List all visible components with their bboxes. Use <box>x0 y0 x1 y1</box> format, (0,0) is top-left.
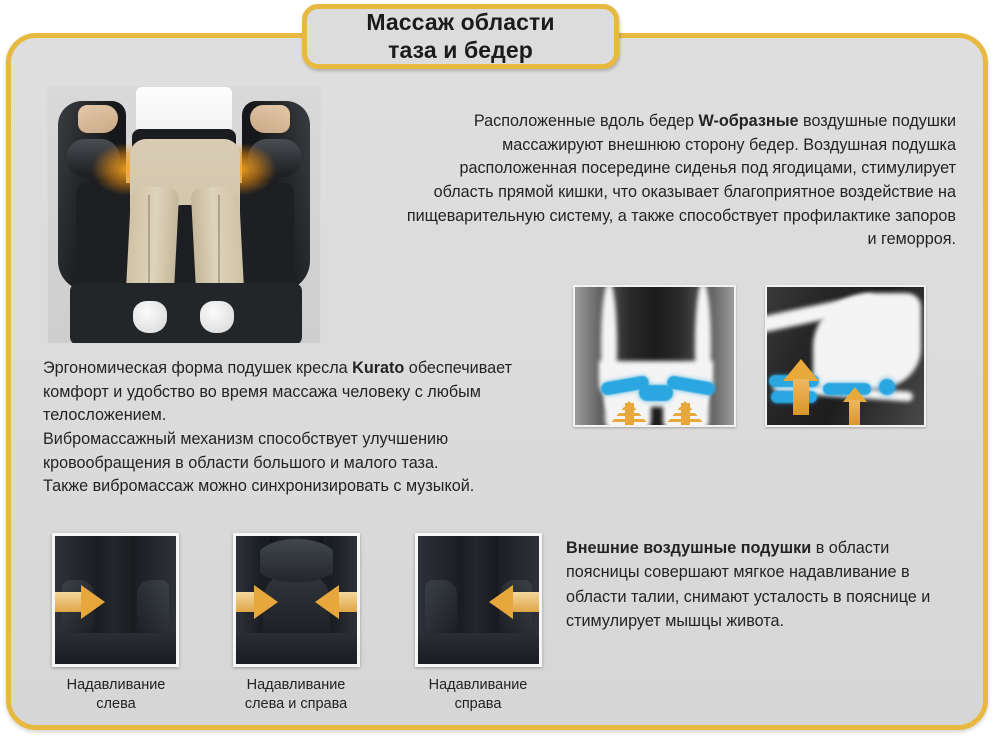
thumbnail-press-right <box>415 533 542 667</box>
caption-both-line1: Надавливание <box>247 677 346 693</box>
orange-arrow-stem-large <box>793 379 809 415</box>
para-top-text2: воздушные подушки массажируют внешнюю ст… <box>407 112 956 248</box>
person-hand-left <box>78 105 118 133</box>
paragraph-hip-thigh-massage: Расположенные вдоль бедер W-образные воз… <box>400 110 956 252</box>
caption-press-right: Надавливание справа <box>398 676 558 714</box>
infographic-page: Массаж области таза и бедер <box>0 0 1000 743</box>
orange-arrow-stem-left <box>625 403 634 427</box>
caption-right-line1: Надавливание <box>429 677 528 693</box>
caption-right-line2: справа <box>455 696 502 712</box>
thumb-right-arrow-stem <box>509 592 542 612</box>
thumbnail-press-left <box>52 533 179 667</box>
thumb-both-arrow-right-icon <box>254 585 278 619</box>
caption-press-both: Надавливание слева и справа <box>216 676 376 714</box>
side-view-cushion-diagram <box>765 285 926 427</box>
person-hand-right <box>250 105 290 133</box>
blue-pressure-point-icon <box>879 379 895 395</box>
person-sock-left <box>133 301 167 333</box>
thumb-left-seat <box>55 633 176 664</box>
para-mid-text3: Вибромассажный механизм способствует улу… <box>43 430 448 472</box>
orange-arrow-head-large <box>783 359 819 381</box>
blue-air-cushion-center <box>639 385 673 401</box>
para-top-bold1: W-образные <box>699 112 799 130</box>
title-box: Массаж области таза и бедер <box>302 4 619 69</box>
thumb-both-arrow-left-icon <box>315 585 339 619</box>
para-mid-bold1: Kurato <box>352 359 404 377</box>
chair-footrest <box>70 283 302 344</box>
thumb-both-hood <box>255 539 337 583</box>
caption-left-line1: Надавливание <box>67 677 166 693</box>
thumb-right-seat <box>418 633 539 664</box>
page-title-line2: таза и бедер <box>388 37 533 63</box>
thumb-right-cushion-left <box>425 580 456 634</box>
paragraph-ergonomic-cushions: Эргономическая форма подушек кресла Kura… <box>43 357 563 499</box>
page-title: Массаж области таза и бедер <box>366 9 554 63</box>
thumb-left-cushion-right <box>137 580 168 634</box>
caption-left-line2: слева <box>96 696 135 712</box>
orange-arrow-stem-small <box>849 400 860 426</box>
para-mid-text4: Также вибромассаж можно синхронизировать… <box>43 477 474 495</box>
page-title-line1: Массаж области <box>366 9 554 35</box>
para-top-text1: Расположенные вдоль бедер <box>474 112 699 130</box>
thumb-right-arrow-left-icon <box>489 585 513 619</box>
caption-press-left: Надавливание слева <box>36 676 196 714</box>
rear-view-cushion-diagram <box>573 285 736 427</box>
thumb-both-seat <box>236 633 357 664</box>
thumb-left-arrow-right-icon <box>81 585 105 619</box>
paragraph-outer-air-cushions: Внешние воздушные подушки в области пояс… <box>566 536 966 633</box>
para-mid-text1: Эргономическая форма подушек кресла <box>43 359 352 377</box>
main-chair-photo <box>47 86 321 344</box>
thumbnail-press-both <box>233 533 360 667</box>
para-bottom-bold1: Внешние воздушные подушки <box>566 539 811 557</box>
main-photo-scene <box>48 87 320 343</box>
person-sock-right <box>200 301 234 333</box>
caption-both-line2: слева и справа <box>245 696 347 712</box>
orange-arrow-stem-right <box>681 403 690 427</box>
